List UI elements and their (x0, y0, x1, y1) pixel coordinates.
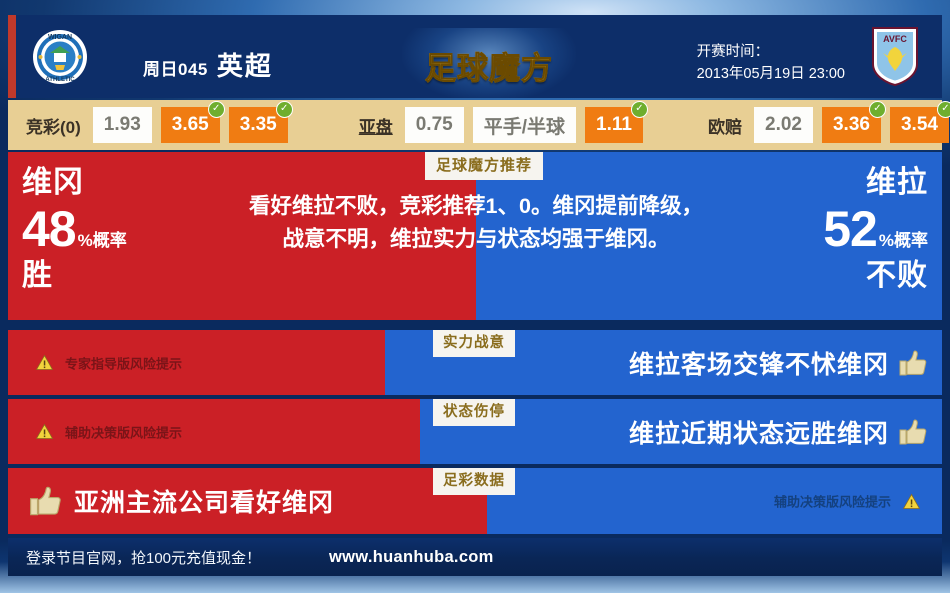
home-team-crest-icon: WIGAN ATHLETIC (32, 29, 88, 85)
odds-value: 2.02 (765, 114, 802, 136)
risk-warning-note: 辅助决策版风险提示 (774, 492, 920, 511)
odds-value: 平手/半球 (484, 112, 565, 139)
row-away-statement-text: 维拉近期状态远胜维冈 (629, 414, 889, 450)
svg-text:ATHLETIC: ATHLETIC (45, 77, 75, 83)
match-title: 周日045英超 (143, 46, 273, 83)
odds-cell[interactable]: 1.11 ✓ (585, 107, 643, 143)
risk-warning-text: 专家指导版风险提示 (65, 353, 182, 372)
odds-value: 3.35 (240, 114, 277, 136)
odds-cell[interactable]: 0.75 (405, 107, 464, 143)
row-category-tag: 实力战意 (433, 330, 515, 357)
row-away-statement: 维拉近期状态远胜维冈 (629, 414, 928, 450)
footer-bar: 登录节目官网，抢100元充值现金！ www.huanhuba.com (8, 538, 942, 576)
odds-cell[interactable]: 3.36 ✓ (822, 107, 881, 143)
footer-website-url[interactable]: www.huanhuba.com (329, 548, 494, 567)
home-team-name: 维冈 (22, 168, 127, 198)
odds-group-jingcai: 竞彩(0) 1.93 3.65 ✓ 3.35 ✓ (26, 100, 297, 150)
away-team-crest-icon: AVFC (870, 25, 920, 87)
check-badge-icon: ✓ (631, 101, 648, 118)
away-probability-suffix: %概率 (879, 232, 928, 249)
thumbs-up-icon (898, 349, 928, 377)
header-accent-stripe (8, 15, 16, 98)
check-badge-icon: ✓ (208, 101, 225, 118)
kickoff-label: 开赛时间： (697, 41, 845, 63)
footer-promo-text: 登录节目官网，抢100元充值现金！ (26, 547, 261, 568)
odds-group-label: 亚盘 (359, 113, 393, 138)
home-outcome-label: 胜 (22, 261, 127, 291)
brand-logo-text: 足球魔方 (425, 43, 553, 88)
row-away-statement-text: 维拉客场交锋不怵维冈 (629, 345, 889, 381)
home-probability-suffix: %概率 (78, 232, 127, 249)
odds-value: 3.65 (172, 114, 209, 136)
odds-value: 0.75 (416, 114, 453, 136)
risk-warning-text: 辅助决策版风险提示 (65, 422, 182, 441)
odds-group-asian-handicap: 亚盘 0.75 平手/半球 1.11 ✓ (359, 100, 652, 150)
odds-group-european-odds: 欧赔 2.02 3.36 ✓ 3.54 ✓ (708, 100, 950, 150)
row-category-tag: 足彩数据 (433, 468, 515, 495)
risk-warning-note: 辅助决策版风险提示 (36, 422, 182, 441)
row-home-statement-text: 亚洲主流公司看好维冈 (74, 483, 334, 519)
row-category-tag: 状态伤停 (433, 399, 515, 426)
comparison-row: 足彩数据 亚洲主流公司看好维冈 辅助决策版风险提示 (8, 468, 942, 534)
odds-value: 3.54 (901, 114, 938, 136)
thumbs-up-icon (28, 485, 63, 517)
comparison-row: 实力战意 专家指导版风险提示 维拉客场交锋不怵维冈 (8, 330, 942, 395)
odds-cell[interactable]: 3.35 ✓ (229, 107, 288, 143)
away-outcome-label: 不败 (823, 261, 928, 291)
prediction-panel: 维冈 48 %概率 胜 维拉 52 %概率 不败 足球魔方推荐 看好维拉不败，竞… (8, 152, 942, 320)
match-number: 周日045 (143, 60, 208, 79)
row-away-statement: 维拉客场交锋不怵维冈 (629, 345, 928, 381)
odds-value: 1.93 (104, 114, 141, 136)
check-badge-icon: ✓ (276, 101, 293, 118)
risk-warning-note: 专家指导版风险提示 (36, 353, 182, 372)
recommendation-text: 看好维拉不败，竞彩推荐1、0。维冈提前降级，战意不明，维拉实力与状态均强于维冈。 (246, 190, 706, 257)
svg-text:AVFC: AVFC (883, 34, 907, 44)
row-home-statement: 亚洲主流公司看好维冈 (28, 483, 334, 519)
brand-logo: 足球魔方 (420, 42, 558, 88)
odds-cell[interactable]: 3.65 ✓ (161, 107, 220, 143)
thumbs-up-icon (898, 418, 928, 446)
kickoff-value: 2013年05月19日 23:00 (697, 63, 845, 85)
away-team-name: 维拉 (823, 168, 928, 198)
odds-value: 3.36 (833, 114, 870, 136)
warning-triangle-icon (36, 424, 53, 440)
check-badge-icon: ✓ (937, 101, 950, 118)
home-probability-block: 维冈 48 %概率 胜 (22, 168, 127, 291)
recommendation-tag: 足球魔方推荐 (425, 152, 543, 180)
warning-triangle-icon (36, 355, 53, 371)
home-probability-value: 48 (22, 204, 76, 254)
league-name: 英超 (217, 51, 273, 81)
odds-value: 1.11 (596, 114, 632, 136)
odds-cell[interactable]: 平手/半球 (473, 107, 576, 143)
risk-warning-text: 辅助决策版风险提示 (774, 492, 891, 511)
comparison-row: 状态伤停 辅助决策版风险提示 维拉近期状态远胜维冈 (8, 399, 942, 464)
warning-triangle-icon (903, 493, 920, 509)
odds-cell[interactable]: 2.02 (754, 107, 813, 143)
check-badge-icon: ✓ (869, 101, 886, 118)
match-header: WIGAN ATHLETIC 周日045英超 足球魔方 开赛时间： 2013年0… (8, 15, 942, 98)
away-probability-block: 维拉 52 %概率 不败 (823, 168, 928, 291)
broadcast-overlay-screen: WIGAN ATHLETIC 周日045英超 足球魔方 开赛时间： 2013年0… (0, 0, 950, 593)
away-probability-value: 52 (823, 204, 877, 254)
odds-bar: 竞彩(0) 1.93 3.65 ✓ 3.35 ✓ 亚盘 0.75 平手/半球 1… (8, 100, 942, 150)
odds-cell[interactable]: 1.93 (93, 107, 152, 143)
odds-group-label: 欧赔 (708, 113, 742, 138)
odds-cell[interactable]: 3.54 ✓ (890, 107, 949, 143)
svg-text:WIGAN: WIGAN (48, 34, 72, 41)
kickoff-time: 开赛时间： 2013年05月19日 23:00 (697, 41, 845, 86)
odds-group-label: 竞彩(0) (26, 113, 81, 138)
